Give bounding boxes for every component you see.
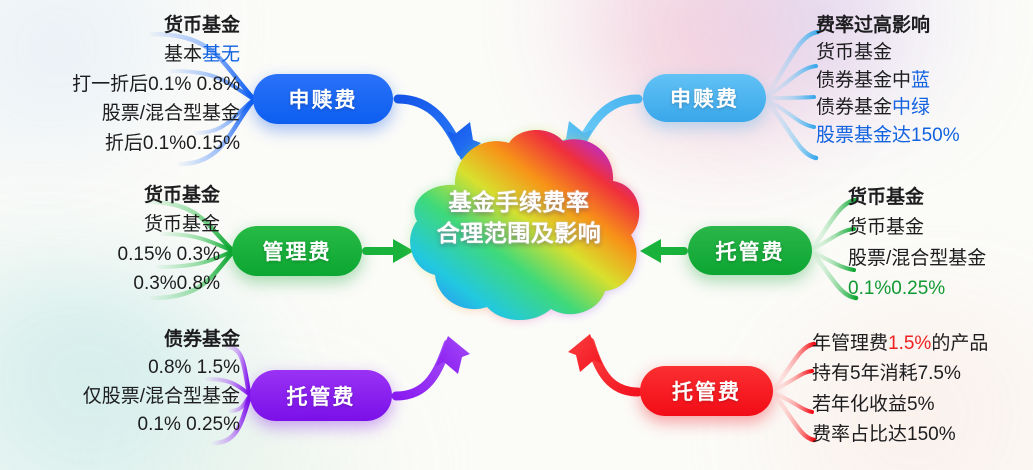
leaf-item: 费率占比达150% [812, 425, 956, 444]
node-label: 管理费 [263, 236, 332, 266]
leaf-text-highlight: 1.5% [888, 333, 931, 354]
center-node[interactable]: 基金手续费率 合理范围及影响 [393, 131, 645, 321]
leaf-text-plain: 债券基金 [816, 97, 892, 118]
leaf-item: 0.3%0.8% [133, 274, 220, 293]
tendrils-top-right [767, 32, 818, 158]
mindmap-canvas: 基金手续费率 合理范围及影响 申赎费 管理费 托管费 申赎费 托管费 托管费 货… [0, 0, 1033, 470]
node-guanlifei-middle-left[interactable]: 管理费 [232, 226, 362, 276]
tendrils-bottom-right [774, 344, 814, 440]
leaf-item: 债券基金中蓝 [816, 71, 930, 90]
node-tuoguanfei-bottom-left[interactable]: 托管费 [250, 370, 392, 421]
node-shenshufei-top-right[interactable]: 申赎费 [643, 74, 766, 122]
center-node-title: 基金手续费率 合理范围及影响 [393, 187, 645, 249]
leaf-item: 货币基金 [816, 43, 892, 62]
leaf-item: 货币基金 [164, 16, 240, 35]
leaf-item: 债券基金中绿 [816, 98, 930, 117]
leaf-group-bottom-left: 债券基金 0.8% 1.5% 仅股票/混合型基金 0.1% 0.25% [8, 330, 240, 435]
leaf-item: 若年化收益5% [812, 395, 934, 414]
leaf-item: 股票/混合型基金 [102, 104, 240, 123]
leaf-item: 货币基金 [144, 186, 220, 205]
leaf-text-highlight: 蓝 [911, 70, 930, 91]
leaf-group-middle-left: 货币基金 货币基金 0.15% 0.3% 0.3%0.8% [8, 186, 220, 294]
node-tuoguanfei-bottom-right[interactable]: 托管费 [640, 366, 773, 416]
leaf-item: 基本基无 [164, 45, 240, 64]
node-shenshufei-top-left[interactable]: 申赎费 [253, 74, 393, 124]
node-tuoguanfei-middle-right[interactable]: 托管费 [688, 226, 812, 275]
node-label: 托管费 [287, 381, 356, 411]
leaf-item: 0.8% 1.5% [148, 358, 240, 377]
leaf-group-top-left: 货币基金 基本基无 打一折后0.1% 0.8% 股票/混合型基金 折后0.1%0… [12, 16, 240, 153]
leaf-item: 0.1% 0.25% [138, 415, 240, 434]
node-label: 申赎费 [289, 84, 358, 114]
leaf-item: 货币基金 [144, 215, 220, 234]
node-label: 申赎费 [670, 83, 739, 113]
leaf-text-highlight: 中绿 [892, 97, 930, 118]
leaf-group-middle-right: 货币基金 货币基金 股票/混合型基金 0.1%0.25% [848, 188, 1033, 299]
leaf-group-bottom-right: 年管理费1.5%的产品 持有5年消耗7.5% 若年化收益5% 费率占比达150% [812, 334, 1033, 445]
leaf-item: 债券基金 [164, 330, 240, 349]
arrow-middle-right-to-center [640, 239, 684, 263]
node-label: 托管费 [672, 376, 741, 406]
leaf-text-highlight: 基无 [202, 44, 240, 65]
leaf-item: 0.1%0.25% [848, 279, 945, 298]
leaf-group-top-right: 费率过高影响 货币基金 债券基金中蓝 债券基金中绿 股票基金达150% [816, 16, 1030, 145]
arrow-bottom-left-to-center [396, 336, 470, 396]
leaf-item: 股票基金达150% [816, 126, 960, 145]
leaf-item: 年管理费1.5%的产品 [812, 334, 988, 353]
leaf-item: 股票/混合型基金 [848, 249, 986, 268]
leaf-item: 费率过高影响 [816, 16, 930, 35]
leaf-text-plain: 基本 [164, 44, 202, 65]
leaf-text-plain: 年管理费 [812, 333, 888, 354]
leaf-item: 0.15% 0.3% [118, 245, 220, 264]
arrow-bottom-right-to-center [568, 334, 638, 392]
leaf-text-plain: 的产品 [931, 333, 988, 354]
node-label: 托管费 [716, 236, 785, 266]
leaf-text-plain: 债券基金中 [816, 70, 911, 91]
leaf-item: 货币基金 [848, 218, 924, 237]
leaf-item: 打一折后0.1% 0.8% [72, 75, 240, 94]
leaf-item: 货币基金 [848, 188, 924, 207]
leaf-item: 仅股票/混合型基金 [83, 387, 240, 406]
leaf-item: 持有5年消耗7.5% [812, 364, 961, 383]
leaf-item: 折后0.1%0.15% [105, 134, 240, 153]
